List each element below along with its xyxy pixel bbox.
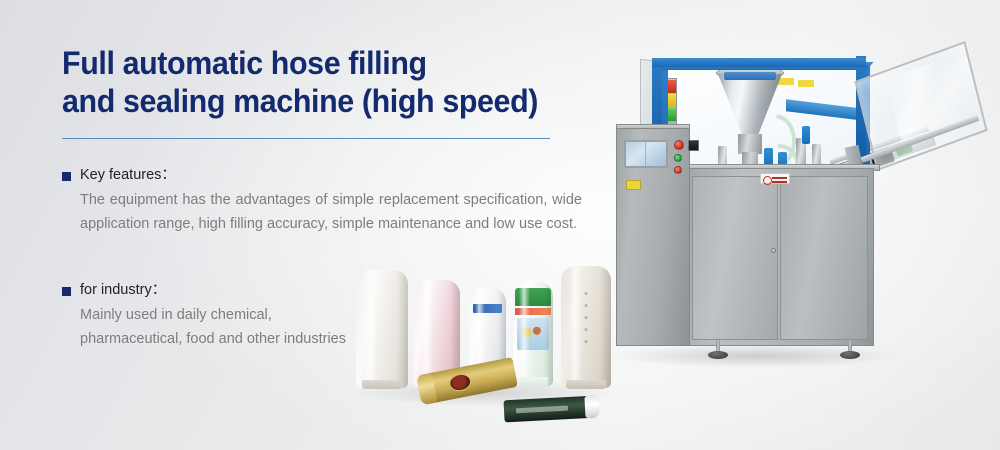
hopper-collar xyxy=(724,72,776,80)
hmi-screen-divider xyxy=(645,142,646,166)
feature-heading-row: Key features： xyxy=(62,166,582,185)
frame-top-rail-front xyxy=(652,58,866,67)
stop-button[interactable] xyxy=(674,166,682,174)
leveling-foot-pad xyxy=(840,351,860,359)
selector-switch[interactable] xyxy=(688,140,699,151)
tube-cap xyxy=(518,377,548,387)
cabinet-door-right[interactable] xyxy=(780,176,868,340)
tube-body xyxy=(356,270,408,388)
tube-cap xyxy=(362,380,402,389)
title-divider xyxy=(62,138,550,139)
tower-light-red xyxy=(667,80,676,93)
tube-shade xyxy=(544,282,553,386)
feature-block-key-features: Key features： The equipment has the adva… xyxy=(62,166,582,236)
machine-product-image xyxy=(600,18,1000,418)
warning-label-icon xyxy=(798,80,814,87)
tube-body xyxy=(513,282,553,386)
tower-light-green xyxy=(667,108,676,121)
product-banner: Full automatic hose filling and sealing … xyxy=(0,0,1000,450)
cabinet-door-left[interactable] xyxy=(692,176,778,340)
tube-white-large xyxy=(356,270,408,388)
tube-green-kids xyxy=(513,282,553,386)
emergency-stop-button[interactable] xyxy=(674,140,684,150)
tube-emblem xyxy=(448,372,473,393)
ce-label-icon xyxy=(626,180,641,190)
feature-heading-row: for industry： xyxy=(62,281,362,300)
start-button[interactable] xyxy=(674,154,682,162)
hopper-neck xyxy=(738,134,762,154)
tube-samples-group xyxy=(352,258,592,428)
safety-warning-sticker xyxy=(760,173,790,184)
feature-block-for-industry: for industry： Mainly used in daily chemi… xyxy=(62,281,362,351)
feature-heading-label: for industry： xyxy=(80,281,166,300)
tube-dot-pattern xyxy=(585,292,588,352)
feature-body-text: Mainly used in daily chemical, pharmaceu… xyxy=(80,304,348,351)
cabinet-door-lock[interactable] xyxy=(771,248,776,253)
hmi-touchscreen[interactable] xyxy=(624,140,668,168)
tube-dark-green xyxy=(503,396,596,423)
tube-shade xyxy=(397,270,408,388)
tube-label-text xyxy=(516,406,568,414)
tube-gloss xyxy=(569,266,582,388)
feature-body-text: The equipment has the advantages of simp… xyxy=(80,189,582,236)
square-bullet-icon xyxy=(62,172,71,181)
tube-gloss xyxy=(364,270,378,388)
feature-heading-label: Key features： xyxy=(80,166,176,185)
tower-light-yellow xyxy=(667,94,676,107)
page-title: Full automatic hose filling and sealing … xyxy=(62,44,556,120)
tube-cap xyxy=(584,395,599,418)
headline-block: Full automatic hose filling and sealing … xyxy=(62,44,582,120)
tube-body xyxy=(503,396,596,423)
square-bullet-icon xyxy=(62,287,71,296)
leveling-foot-pad xyxy=(708,351,728,359)
blue-actuator-module xyxy=(802,126,810,144)
tube-gloss xyxy=(519,282,529,386)
